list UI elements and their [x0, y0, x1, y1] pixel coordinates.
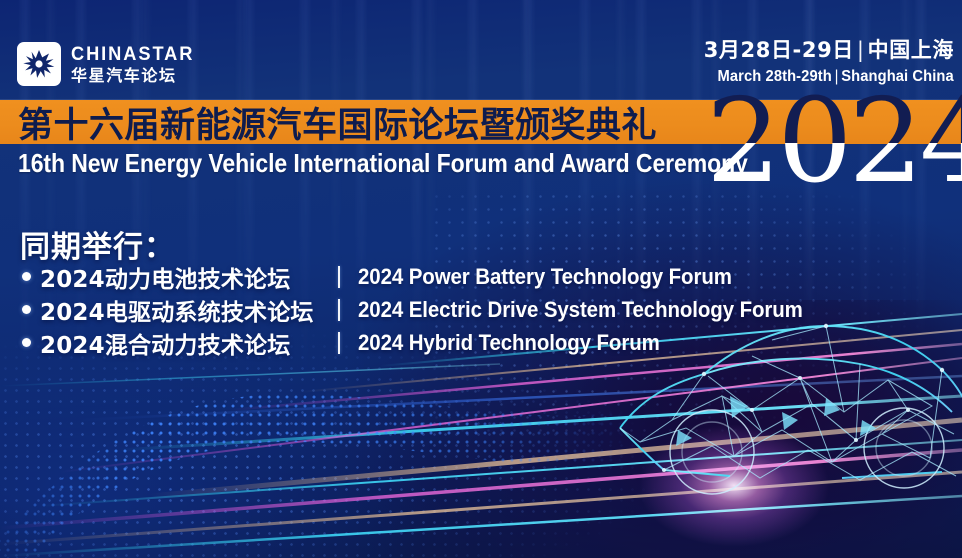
page-title-cn: 第十六届新能源汽车国际论坛暨颁奖典礼	[18, 99, 657, 145]
wireframe-car-icon	[612, 300, 962, 558]
dot-wave-graphic	[0, 350, 630, 558]
event-location-en: Shanghai China	[841, 68, 954, 85]
year-display: 2024 2024	[706, 92, 962, 192]
bullet-icon	[22, 272, 31, 281]
brand-text: CHINASTAR 华星汽车论坛	[71, 45, 199, 84]
list-item: 2024动力电池技术论坛 2024 Power Battery Technolo…	[22, 262, 902, 291]
brand-logo: CHINASTAR 华星汽车论坛	[16, 41, 199, 87]
event-date-en: March 28th-29th	[718, 68, 832, 85]
event-location-cn: 中国上海	[868, 38, 954, 62]
event-meta: 3月28日-29日|中国上海 March 28th-29th|Shanghai …	[697, 40, 954, 85]
forum-label-cn: 2024电驱动系统技术论坛	[40, 293, 338, 327]
forum-label-cn: 2024混合动力技术论坛	[40, 326, 338, 360]
event-meta-en: March 28th-29th|Shanghai China	[718, 69, 954, 85]
meta-separator-cn: |	[854, 38, 868, 62]
bullet-icon	[22, 338, 31, 347]
bullet-icon	[22, 305, 31, 314]
brand-name-en: CHINASTAR	[71, 45, 194, 64]
chinastar-burst-logo-icon	[16, 41, 62, 87]
forum-label-cn: 2024动力电池技术论坛	[40, 260, 338, 294]
forum-divider	[338, 299, 340, 321]
forum-divider	[338, 332, 340, 354]
forum-divider	[338, 266, 340, 288]
event-banner: CHINASTAR 华星汽车论坛 3月28日-29日|中国上海 March 28…	[0, 0, 962, 558]
brand-name-cn: 华星汽车论坛	[71, 68, 199, 84]
page-title-en: 16th New Energy Vehicle International Fo…	[18, 148, 748, 179]
banner-header: CHINASTAR 华星汽车论坛 3月28日-29日|中国上海 March 28…	[0, 0, 962, 100]
event-meta-cn: 3月28日-29日|中国上海	[697, 40, 954, 61]
forum-label-en: 2024 Power Battery Technology Forum	[358, 264, 732, 290]
event-date-cn: 3月28日-29日	[704, 38, 854, 62]
